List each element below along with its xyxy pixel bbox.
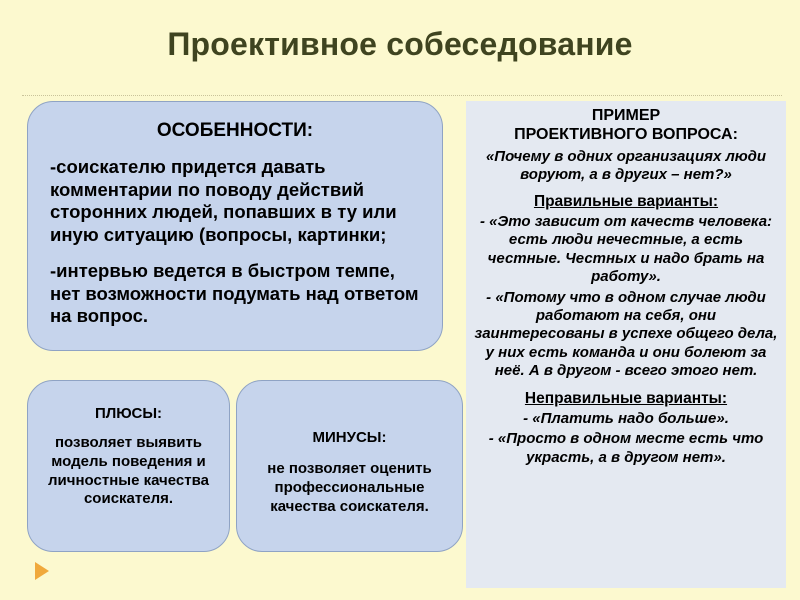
incorrect-answer-item: - «Платить надо больше». (472, 410, 780, 428)
pluses-box-body: позволяет выявить модель поведения и лич… (28, 422, 229, 509)
correct-answers-heading: Правильные варианты: (472, 193, 780, 211)
features-box-heading: ОСОБЕННОСТИ: (28, 102, 442, 142)
example-panel: ПРИМЕР ПРОЕКТИВНОГО ВОПРОСА: «Почему в о… (466, 101, 786, 588)
features-box: ОСОБЕННОСТИ: -соискателю придется давать… (27, 101, 443, 351)
minuses-box-body: не позволяет оценить профессиональные ка… (237, 446, 462, 516)
example-panel-title-line1: ПРИМЕР (472, 107, 780, 126)
pluses-box-heading: ПЛЮСЫ: (28, 381, 229, 422)
correct-answer-item: - «Это зависит от качеств человека: есть… (472, 213, 780, 287)
incorrect-answer-item: - «Просто в одном месте есть что украсть… (472, 430, 780, 467)
features-paragraph-1: -соискателю придется давать комментарии … (50, 156, 422, 246)
minuses-box: МИНУСЫ: не позволяет оценить профессиона… (236, 380, 463, 552)
features-paragraph-2: -интервью ведется в быстром темпе, нет в… (50, 260, 422, 328)
correct-answer-item: - «Потому что в одном случае люди работа… (472, 289, 780, 381)
example-question: «Почему в одних организациях люди воруют… (472, 148, 780, 184)
incorrect-answers-heading: Неправильные варианты: (472, 390, 780, 408)
minuses-box-heading: МИНУСЫ: (237, 381, 462, 446)
example-panel-title-line2: ПРОЕКТИВНОГО ВОПРОСА: (472, 126, 780, 145)
features-box-body: -соискателю придется давать комментарии … (28, 142, 442, 328)
pluses-box: ПЛЮСЫ: позволяет выявить модель поведени… (27, 380, 230, 552)
page-title: Проективное собеседование (0, 26, 800, 63)
triangle-bullet-icon (35, 562, 49, 580)
